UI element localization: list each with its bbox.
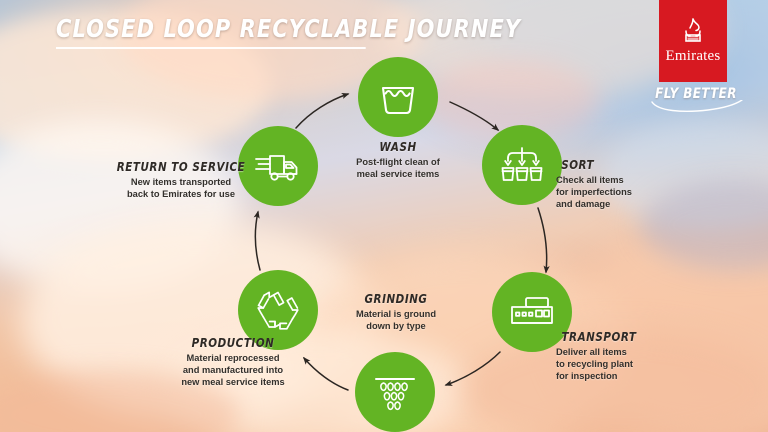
caption-desc-wash: Post-flight clean of meal service items: [318, 156, 478, 181]
caption-transport: TRANSPORT Deliver all items to recycling…: [556, 330, 692, 383]
emirates-calligraphy-icon: [659, 16, 727, 46]
page-title: CLOSED LOOP RECYCLABLE JOURNEY: [56, 16, 521, 41]
recycle-arrows-icon: [255, 288, 301, 332]
caption-desc-line: Material reprocessed: [148, 352, 318, 364]
caption-desc-line: and manufactured into: [148, 364, 318, 376]
caption-desc-production: Material reprocessed and manufactured in…: [148, 352, 318, 389]
caption-title-production: PRODUCTION: [155, 336, 311, 350]
caption-desc-line: down by type: [322, 320, 470, 332]
caption-desc-sort: Check all items for imperfections and da…: [556, 174, 686, 211]
sort-bins-icon: [498, 144, 546, 186]
swoosh-icon: [648, 100, 744, 114]
caption-desc-line: New items transported: [110, 176, 252, 188]
node-grinding[interactable]: [355, 352, 435, 432]
caption-desc-line: to recycling plant: [556, 358, 692, 370]
node-sort[interactable]: [482, 125, 562, 205]
page-title-block: CLOSED LOOP RECYCLABLE JOURNEY: [56, 16, 556, 49]
emirates-logo: Emirates: [659, 0, 727, 82]
infographic-canvas: CLOSED LOOP RECYCLABLE JOURNEY Emirates …: [0, 0, 768, 432]
caption-desc-line: Post-flight clean of: [318, 156, 478, 168]
caption-desc-line: for imperfections: [556, 186, 686, 198]
caption-desc-line: Check all items: [556, 174, 686, 186]
emirates-wordmark: Emirates: [659, 48, 727, 65]
caption-desc-line: back to Emirates for use: [110, 188, 252, 200]
caption-desc-line: Deliver all items: [556, 346, 692, 358]
fly-better-tagline: FLY BETTER: [648, 86, 744, 112]
caption-desc-line: new meal service items: [148, 376, 318, 388]
wash-tub-icon: [376, 77, 420, 117]
cloud: [0, 120, 240, 290]
node-wash[interactable]: [358, 57, 438, 137]
caption-title-return-to-service: RETURN TO SERVICE: [116, 160, 247, 174]
caption-desc-line: Material is ground: [322, 308, 470, 320]
caption-return-to-service: RETURN TO SERVICE New items transported …: [110, 160, 252, 200]
caption-grinding: GRINDING Material is ground down by type: [322, 292, 470, 332]
caption-title-transport: TRANSPORT: [561, 330, 686, 344]
recycling-plant-icon: [508, 293, 556, 331]
caption-desc-line: and damage: [556, 198, 686, 210]
caption-title-sort: SORT: [561, 158, 681, 172]
caption-title-wash: WASH: [324, 140, 471, 154]
caption-desc-return-to-service: New items transported back to Emirates f…: [110, 176, 252, 201]
caption-desc-line: meal service items: [318, 168, 478, 180]
caption-wash: WASH Post-flight clean of meal service i…: [318, 140, 478, 180]
title-underline: [56, 47, 366, 49]
caption-desc-transport: Deliver all items to recycling plant for…: [556, 346, 692, 383]
caption-desc-grinding: Material is ground down by type: [322, 308, 470, 333]
grinding-granules-icon: [371, 370, 419, 414]
caption-desc-line: for inspection: [556, 370, 692, 382]
caption-sort: SORT Check all items for imperfections a…: [556, 158, 686, 211]
caption-title-grinding: GRINDING: [328, 292, 464, 306]
caption-production: PRODUCTION Material reprocessed and manu…: [148, 336, 318, 389]
delivery-truck-icon: [253, 147, 303, 185]
